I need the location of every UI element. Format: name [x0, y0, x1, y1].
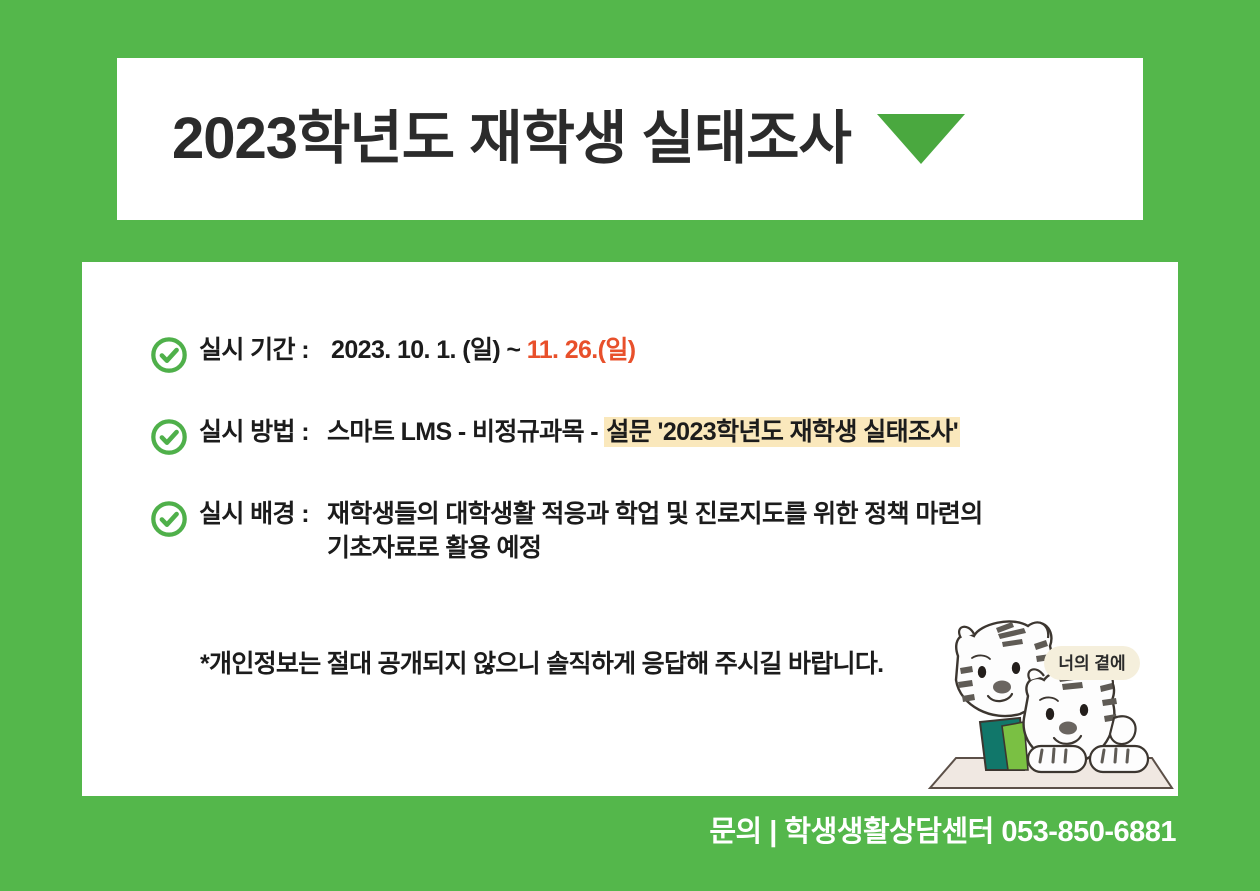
background-line-1: 재학생들의 대학생활 적응과 학업 및 진로지도를 위한 정책 마련의: [327, 498, 983, 532]
privacy-note: *개인정보는 절대 공개되지 않으니 솔직하게 응답해 주시길 바랍니다.: [200, 644, 883, 680]
info-row-list: 실시 기간 : 2023. 10. 1. (일) ~ 11. 26.(일) 실시…: [150, 334, 1150, 608]
contact-footer: 문의 | 학생생활상담센터 053-850-6881: [709, 808, 1176, 850]
poster-title-bar: 2023학년도 재학생 실태조사: [117, 58, 1143, 220]
tiger-small: [1024, 664, 1148, 772]
check-circle-icon: [150, 336, 188, 374]
period-start-text: 2023. 10. 1. (일) ~: [331, 336, 527, 364]
info-row-method: 실시 방법 : 스마트 LMS - 비정규과목 - 설문 '2023학년도 재학…: [150, 416, 1150, 456]
period-end-text: 11. 26.(일): [527, 336, 636, 364]
info-row-period: 실시 기간 : 2023. 10. 1. (일) ~ 11. 26.(일): [150, 334, 1150, 374]
info-row-value: 스마트 LMS - 비정규과목 - 설문 '2023학년도 재학생 실태조사': [327, 416, 960, 450]
method-path-text: 스마트 LMS - 비정규과목 -: [327, 418, 604, 446]
content-card: 실시 기간 : 2023. 10. 1. (일) ~ 11. 26.(일) 실시…: [82, 262, 1178, 796]
poster-root: { "page": { "background_color": "#54b74b…: [0, 0, 1260, 891]
tiger-hand-right: [1110, 716, 1136, 744]
tiger-mascot-illustration: 너의 곁에: [916, 610, 1178, 796]
triangle-down-icon: [877, 114, 965, 164]
info-row-value: 재학생들의 대학생활 적응과 학업 및 진로지도를 위한 정책 마련의 기초자료…: [327, 498, 983, 566]
speech-bubble-text: 너의 곁에: [1058, 654, 1125, 673]
info-row-background: 실시 배경 : 재학생들의 대학생활 적응과 학업 및 진로지도를 위한 정책 …: [150, 498, 1150, 566]
method-survey-name-highlight: 설문 '2023학년도 재학생 실태조사': [604, 417, 960, 447]
check-circle-icon: [150, 500, 188, 538]
info-row-value: 2023. 10. 1. (일) ~ 11. 26.(일): [331, 334, 635, 368]
info-row-label: 실시 방법 :: [199, 416, 309, 450]
info-row-label: 실시 기간 :: [199, 334, 309, 368]
info-row-label: 실시 배경 :: [199, 498, 309, 532]
background-line-2: 기초자료로 활용 예정: [327, 532, 983, 566]
speech-bubble: 너의 곁에: [1044, 646, 1140, 680]
page-title: 2023학년도 재학생 실태조사: [172, 110, 851, 168]
check-circle-icon: [150, 418, 188, 456]
